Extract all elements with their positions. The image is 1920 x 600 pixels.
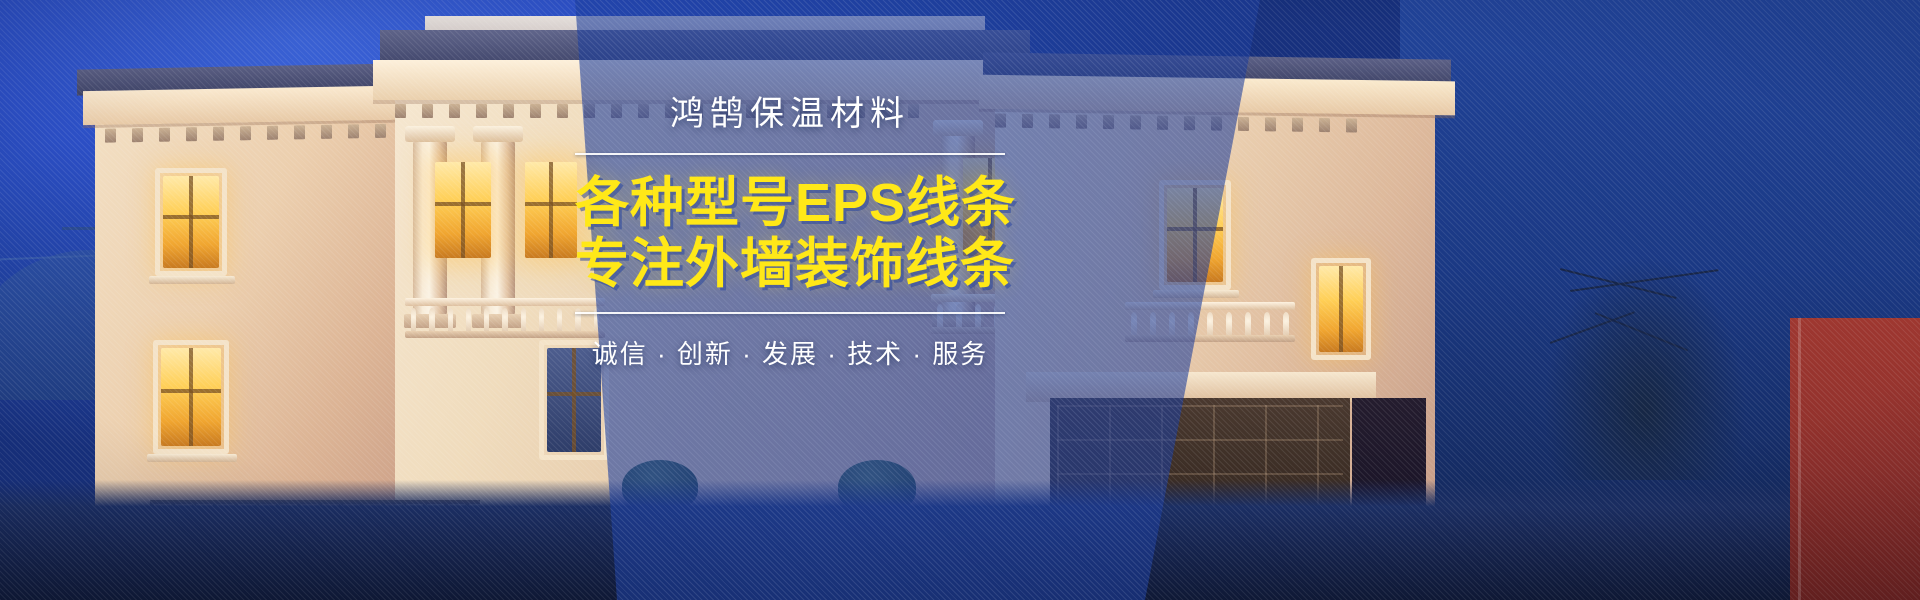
hero-copy: 鸿鹄保温材料 各种型号EPS线条 专注外墙装饰线条 诚信 · 创新 · 发展 ·… <box>575 96 1005 371</box>
divider-top <box>575 153 1005 155</box>
brand-name: 鸿鹄保温材料 <box>575 96 1005 133</box>
hero-banner: 鸿鹄保温材料 各种型号EPS线条 专注外墙装饰线条 诚信 · 创新 · 发展 ·… <box>0 0 1920 600</box>
headline-line-2: 专注外墙装饰线条 <box>575 234 1005 294</box>
headline-line-1: 各种型号EPS线条 <box>575 173 1005 233</box>
divider-bottom <box>575 312 1005 314</box>
tagline: 诚信 · 创新 · 发展 · 技术 · 服务 <box>575 334 1005 371</box>
